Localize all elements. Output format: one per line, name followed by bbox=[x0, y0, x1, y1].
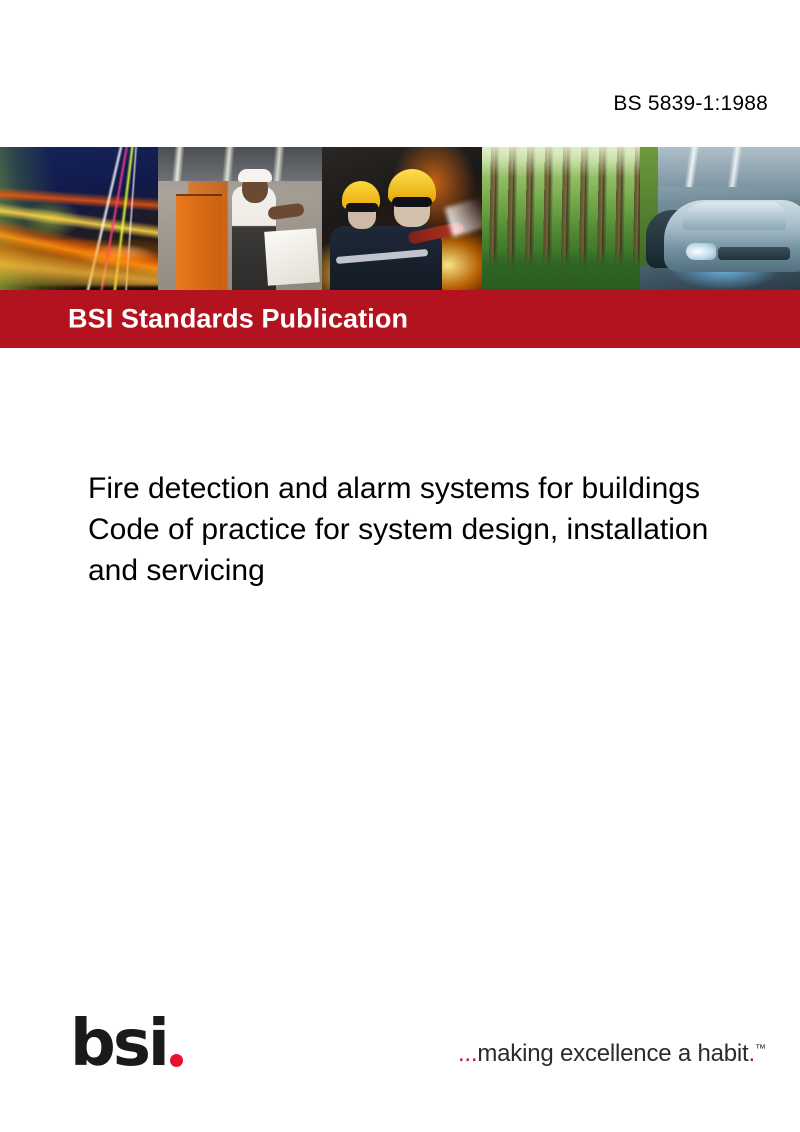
car-headlight bbox=[686, 243, 716, 260]
car-grille bbox=[718, 247, 790, 260]
bsi-logo: bsi bbox=[70, 1008, 183, 1070]
bsi-tagline: ...making excellence a habit.™ bbox=[458, 1040, 766, 1068]
water-jet bbox=[445, 195, 482, 237]
standard-number: BS 5839-1:1988 bbox=[613, 92, 768, 116]
title-line-2: Code of practice for system design, inst… bbox=[88, 509, 788, 550]
tagline-text: making excellence a habit bbox=[477, 1040, 748, 1067]
strip-panel-warehouse-worker bbox=[158, 147, 322, 290]
bsi-logo-text: bsi bbox=[70, 1020, 167, 1070]
title-line-1: Fire detection and alarm systems for bui… bbox=[88, 468, 788, 509]
firefighter-visor-right bbox=[392, 197, 432, 207]
tagline-ellipsis: ... bbox=[458, 1040, 477, 1067]
title-line-3: and servicing bbox=[88, 550, 788, 591]
orange-crate bbox=[176, 194, 222, 290]
strip-panel-forest bbox=[482, 147, 640, 290]
strip-panel-firefighters bbox=[322, 147, 482, 290]
paper-stack bbox=[264, 228, 320, 285]
bsi-standards-banner: BSI Standards Publication bbox=[0, 290, 800, 348]
page-title: Fire detection and alarm systems for bui… bbox=[88, 468, 788, 591]
cover-image-strip bbox=[0, 147, 800, 290]
banner-label: BSI Standards Publication bbox=[68, 304, 408, 335]
strip-panel-night-traffic-light-trails bbox=[0, 147, 158, 290]
car-windscreen bbox=[682, 202, 786, 230]
trademark-icon: ™ bbox=[755, 1043, 766, 1055]
bsi-logo-dot-icon bbox=[170, 1054, 183, 1067]
firefighter-visor-left bbox=[346, 203, 378, 212]
worker-cap bbox=[238, 169, 272, 182]
forest-canopy bbox=[482, 147, 640, 177]
strip-panel-car-production-line bbox=[640, 147, 800, 290]
factory-lights bbox=[640, 147, 800, 187]
